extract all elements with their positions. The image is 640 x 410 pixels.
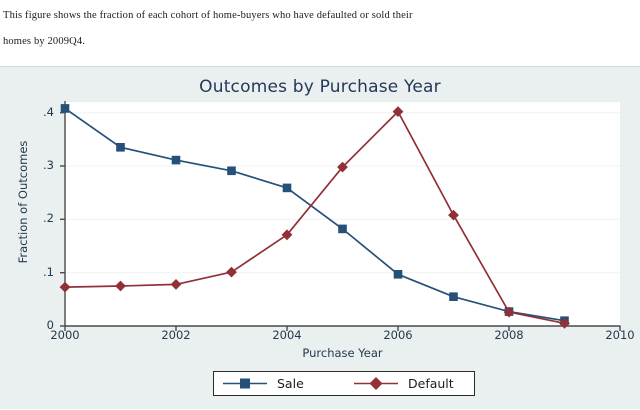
gridlines: [65, 113, 620, 326]
y-tick-label-2: .2: [24, 211, 54, 225]
marker-default-2003: [226, 267, 237, 278]
data-series: [60, 104, 570, 329]
marker-sale-2004: [283, 184, 292, 193]
x-tick-label-0: 2000: [35, 328, 95, 342]
legend-entry-default[interactable]: Default: [353, 372, 454, 395]
series-line-default: [65, 112, 565, 324]
axis-lines: [65, 101, 621, 327]
y-tick-label-4: .4: [24, 105, 54, 119]
legend-label-default: Default: [408, 376, 454, 391]
marker-sale-2006: [394, 270, 403, 279]
legend-label-sale: Sale: [277, 376, 304, 391]
legend-swatch-default: [353, 372, 399, 395]
axis-ticks: [60, 113, 620, 331]
x-tick-label-1: 2002: [146, 328, 206, 342]
legend-entry-sale[interactable]: Sale: [222, 372, 304, 395]
chart-figure: Outcomes by Purchase Year Fraction of Ou…: [0, 66, 640, 409]
x-tick-label-4: 2008: [479, 328, 539, 342]
legend-swatch-sale: [222, 372, 268, 395]
marker-sale-2001: [116, 143, 125, 152]
series-line-sale: [65, 108, 565, 320]
caption-line-2: homes by 2009Q4.: [3, 29, 634, 55]
chart-legend: Sale Default: [213, 371, 475, 396]
marker-default-2002: [171, 279, 182, 290]
x-axis-title: Purchase Year: [65, 346, 620, 360]
figure-caption: This figure shows the fraction of each c…: [0, 0, 640, 66]
x-tick-label-5: 2010: [590, 328, 640, 342]
x-tick-label-3: 2006: [368, 328, 428, 342]
marker-sale-2000: [61, 104, 70, 113]
y-tick-label-1: .1: [24, 265, 54, 279]
marker-default-2001: [115, 281, 126, 292]
caption-line-1: This figure shows the fraction of each c…: [3, 3, 634, 29]
marker-sale-2005: [338, 225, 347, 234]
marker-sale-2002: [172, 156, 181, 165]
x-tick-label-2: 2004: [257, 328, 317, 342]
marker-sale-2003: [227, 167, 236, 176]
y-tick-label-3: .3: [24, 158, 54, 172]
marker-default-2000: [60, 282, 71, 293]
marker-sale-2007: [449, 292, 458, 301]
